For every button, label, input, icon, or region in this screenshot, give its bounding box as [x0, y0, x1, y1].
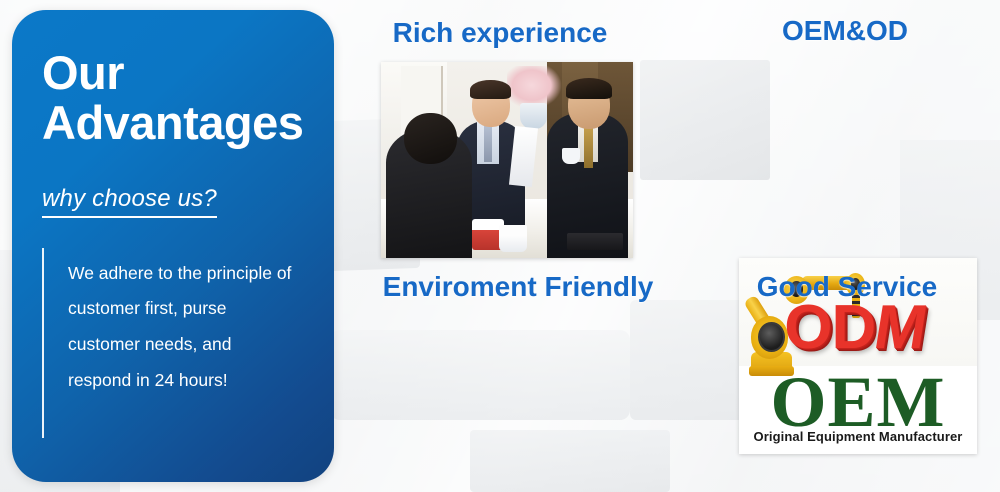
photo-detail — [520, 103, 548, 128]
panel-body-text: We adhere to the principle of customer f… — [68, 248, 298, 438]
panel-subtitle: why choose us? — [42, 185, 217, 218]
feature-enviroment-friendly: Enviroment Friendly — [348, 272, 688, 303]
vertical-rule-divider — [42, 248, 44, 438]
odm-letters-od: OD — [784, 293, 875, 362]
photo-detail — [499, 225, 527, 252]
feature-heading-rich-experience: Rich experience — [355, 18, 645, 49]
title-line-2: Advantages — [42, 98, 316, 148]
background-shape — [330, 330, 630, 420]
panel-body-block: We adhere to the principle of customer f… — [42, 248, 316, 438]
photo-detail — [484, 123, 492, 162]
odm-letter-m: M — [870, 297, 930, 359]
advantages-panel: Our Advantages why choose us? We adhere … — [12, 10, 334, 482]
photo-detail — [567, 233, 622, 251]
feature-heading-good-service: Good Service — [722, 272, 972, 303]
photo-detail — [470, 80, 510, 100]
page-title: Our Advantages — [42, 48, 316, 149]
oem-wordmark: OEM — [739, 366, 977, 438]
oem-caption: Original Equipment Manufacturer — [739, 429, 977, 444]
odm-wordmark: ODM — [784, 297, 977, 359]
our-advantages-banner: Our Advantages why choose us? We adhere … — [0, 0, 1000, 492]
photo-detail — [566, 78, 611, 100]
title-line-1: Our — [42, 46, 124, 99]
photo-detail — [584, 125, 593, 168]
feature-good-service: Good Service — [722, 272, 972, 303]
photo-detail — [562, 148, 580, 164]
business-meeting-photo — [381, 62, 633, 258]
feature-rich-experience: Rich experience — [355, 18, 645, 49]
background-shape — [640, 60, 770, 180]
feature-heading-enviroment-friendly: Enviroment Friendly — [348, 272, 688, 303]
photo-detail — [404, 113, 457, 164]
background-shape — [470, 430, 670, 492]
feature-oem-odm: OEM&OD — [715, 16, 975, 47]
feature-heading-oem-odm: OEM&OD — [715, 16, 975, 47]
photo-detail — [509, 126, 538, 187]
